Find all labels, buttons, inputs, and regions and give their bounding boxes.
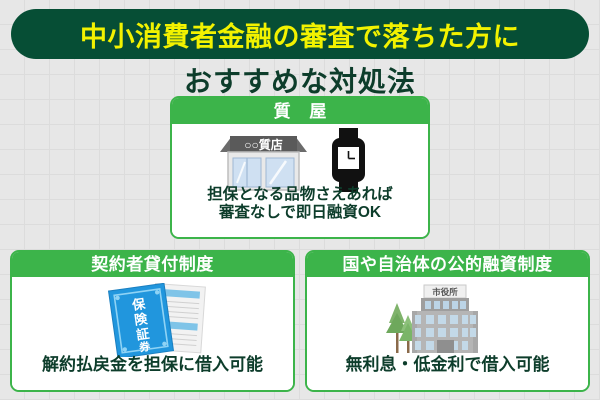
pawn-shop-storefront-icon: ○○質店 xyxy=(216,130,311,192)
card-pawn-shop-caption-line2: 審査なしで即日融資OK xyxy=(172,204,428,222)
card-contract-loan-caption-line1: 解約払戻金を担保に借入可能 xyxy=(12,355,293,375)
card-pawn-shop-title: 質 屋 xyxy=(172,98,428,124)
wristwatch-icon xyxy=(324,127,372,193)
shop-sign-label: ○○質店 xyxy=(244,137,283,152)
card-public-loan-caption-line1: 無利息・低金利で借入可能 xyxy=(307,355,588,375)
card-public-loan-caption: 無利息・低金利で借入可能 xyxy=(307,355,588,375)
card-public-loan-title: 国や自治体の公的融資制度 xyxy=(307,252,588,277)
title-banner: 中小消費者金融の審査で落ちた方に xyxy=(11,9,589,59)
insurance-certificate-icon: 保 険 証 券 xyxy=(95,283,213,357)
card-contract-loan-caption: 解約払戻金を担保に借入可能 xyxy=(12,355,293,375)
card-public-loan-body: 市役所 無利 xyxy=(307,277,588,390)
card-contract-loan-body: 保 険 証 券 解約払戻金を担保に借入可能 xyxy=(12,277,293,390)
city-hall-building-icon: 市役所 xyxy=(369,281,497,357)
card-pawn-shop-body: ○○質店 担保となる品物さえあれば 審査なしで即日融資OK xyxy=(172,124,428,237)
banner-title-text: 中小消費者金融の審査で落ちた方に xyxy=(80,15,520,54)
svg-text:証: 証 xyxy=(135,326,150,343)
card-pawn-shop: 質 屋 ○○質店 xyxy=(170,96,430,239)
card-contract-loan-title: 契約者貸付制度 xyxy=(12,252,293,277)
card-pawn-shop-caption: 担保となる品物さえあれば 審査なしで即日融資OK xyxy=(172,186,428,222)
page-subtitle: おすすめな対処法 xyxy=(0,60,600,100)
card-public-loan: 国や自治体の公的融資制度 市役所 xyxy=(305,250,590,392)
infographic-canvas: 中小消費者金融の審査で落ちた方に おすすめな対処法 質 屋 ○○質店 xyxy=(0,0,600,400)
building-sign-label: 市役所 xyxy=(432,287,458,297)
card-contract-loan: 契約者貸付制度 xyxy=(10,250,295,392)
card-pawn-shop-caption-line1: 担保となる品物さえあれば xyxy=(172,186,428,204)
